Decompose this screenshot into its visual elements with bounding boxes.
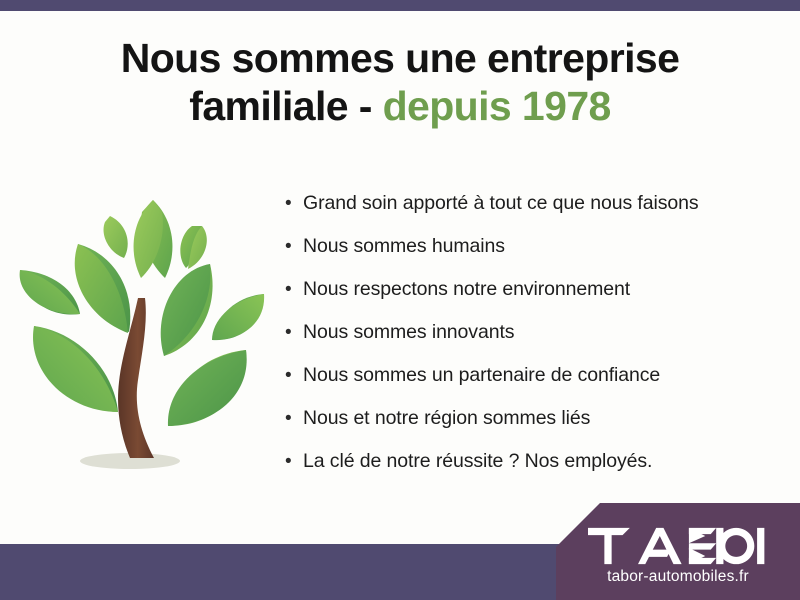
brand-logo-inner: tabor-automobiles.fr [556, 503, 800, 600]
list-item: • Nous et notre région sommes liés [285, 407, 785, 450]
title-line-2-main: familiale - [189, 83, 382, 129]
bullet-marker-icon: • [285, 323, 303, 342]
tree-illustration [14, 186, 272, 496]
list-item: • La clé de notre réussite ? Nos employé… [285, 450, 785, 493]
bullet-marker-icon: • [285, 237, 303, 256]
title-line-2: familiale - depuis 1978 [0, 82, 800, 130]
bullet-marker-icon: • [285, 280, 303, 299]
brand-tagline: tabor-automobiles.fr [607, 568, 749, 586]
tree-leaf-far-left-b [20, 270, 80, 314]
list-item-label: Nous sommes humains [303, 235, 505, 258]
tree-leaf-far-right-b [212, 294, 264, 340]
list-item: • Nous sommes humains [285, 235, 785, 278]
list-item: • Nous sommes innovants [285, 321, 785, 364]
top-accent-bar [0, 0, 800, 11]
list-item-label: Nous sommes innovants [303, 321, 514, 344]
title-line-2-accent: depuis 1978 [383, 83, 611, 129]
bullet-marker-icon: • [285, 452, 303, 471]
page-title: Nous sommes une entreprise familiale - d… [0, 34, 800, 131]
list-item-label: Nous sommes un partenaire de confiance [303, 364, 660, 387]
list-item-label: Nous et notre région sommes liés [303, 407, 590, 430]
list-item: • Grand soin apporté à tout ce que nous … [285, 192, 785, 235]
list-item-label: Nous respectons notre environnement [303, 278, 630, 301]
tabor-wordmark-icon [587, 526, 769, 566]
bullet-marker-icon: • [285, 409, 303, 428]
brand-logo-plate: tabor-automobiles.fr [556, 503, 800, 600]
title-line-1: Nous sommes une entreprise [0, 34, 800, 82]
list-item: • Nous sommes un partenaire de confiance [285, 364, 785, 407]
list-item-label: La clé de notre réussite ? Nos employés. [303, 450, 652, 473]
tree-leaf-lower-left-b [33, 326, 118, 412]
list-item: • Nous respectons notre environnement [285, 278, 785, 321]
bullet-marker-icon: • [285, 366, 303, 385]
tree-leaf-small-upper-left [104, 216, 128, 258]
slide-canvas: Nous sommes une entreprise familiale - d… [0, 0, 800, 600]
bullet-list: • Grand soin apporté à tout ce que nous … [285, 192, 785, 493]
bullet-marker-icon: • [285, 194, 303, 213]
tree-leaf-lower-right-b [168, 350, 247, 426]
list-item-label: Grand soin apporté à tout ce que nous fa… [303, 192, 699, 215]
